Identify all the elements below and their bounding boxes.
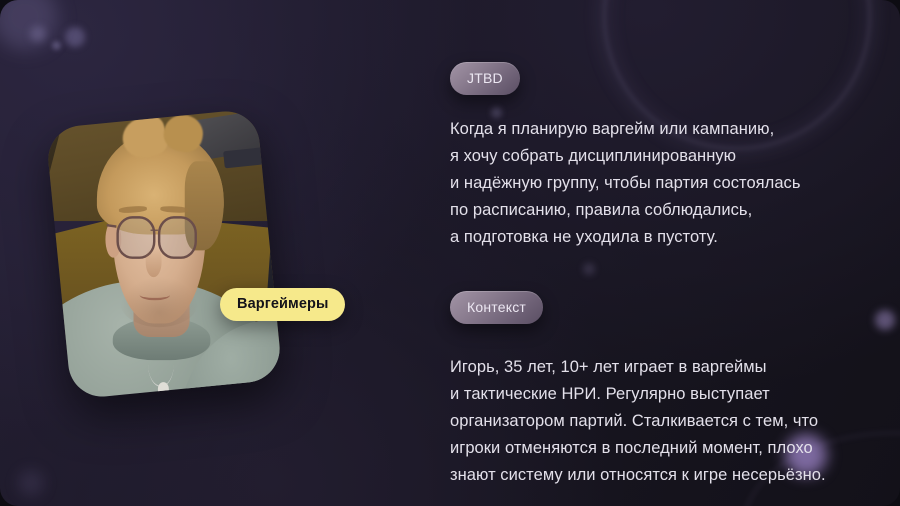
bokeh-dot-small-top-left [30,26,46,42]
persona-photo-card[interactable] [45,108,283,399]
presentation-slide: Варгеймеры JTBD Когда я планирую варгейм… [0,0,900,506]
jtbd-pill-label[interactable]: JTBD [450,62,520,95]
bokeh-dot-bottom-left [18,470,44,496]
bokeh-dot-tiny-upper-left [52,41,61,50]
photo-glasses-lens-right [158,216,198,259]
persona-photo-image [45,108,283,399]
photo-necklace-pendant [158,382,170,397]
jtbd-body-text: Когда я планирую варгейм или кампанию, я… [450,116,862,251]
context-block: Контекст Игорь, 35 лет, 10+ лет играет в… [450,291,862,489]
context-pill-label[interactable]: Контекст [450,291,543,324]
segment-badge-wargamers[interactable]: Варгеймеры [220,288,345,321]
jtbd-block: JTBD Когда я планирую варгейм или кампан… [450,62,862,251]
photo-glasses-bridge [151,229,158,231]
photo-nose [146,247,162,277]
content-column: JTBD Когда я планирую варгейм или кампан… [450,62,862,489]
bokeh-dot-medium-upper-left [65,27,85,47]
photo-stubble [120,277,198,327]
bokeh-dot-large-top-left [0,0,58,50]
context-body-text: Игорь, 35 лет, 10+ лет играет в варгеймы… [450,354,862,489]
bokeh-dot-right-small [875,310,895,330]
photo-mouth [139,289,170,300]
